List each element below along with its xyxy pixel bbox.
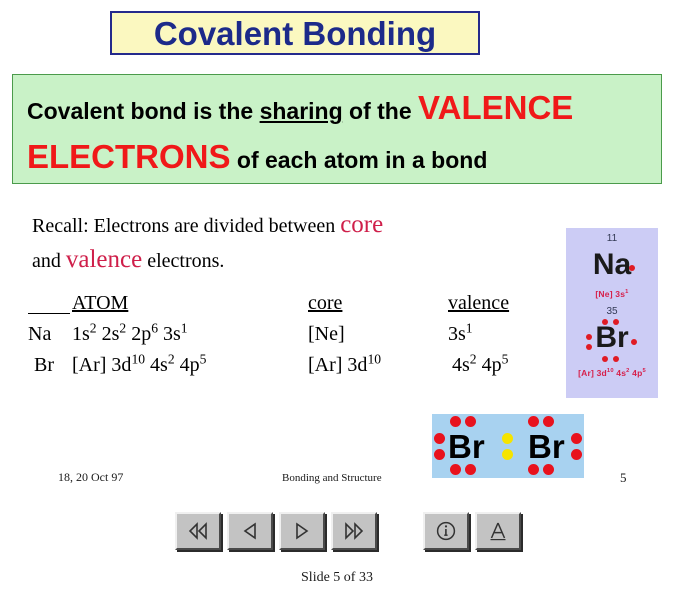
electron-dot-icon [602,319,608,325]
row-valence: 3s1 [448,323,473,346]
slide-navigation-bar [175,512,505,554]
definition-emphasis-valence: VALENCE [418,89,573,126]
lone-pair-dot-icon [528,416,539,427]
electron-dot-icon [586,334,592,340]
sodium-symbol-group: Na [566,247,658,287]
electron-dot-icon [586,344,592,350]
sodium-configuration: [Ne] 3s1 [566,289,658,300]
last-slide-button[interactable] [331,512,377,550]
electron-dot-icon [613,319,619,325]
row-core: [Ar] 3d10 [308,354,381,377]
row-configuration: [Ar] 3d10 4s2 4p5 [72,354,206,377]
lone-pair-dot-icon [450,464,461,475]
definition-text-part1: Covalent bond is the [27,98,260,124]
shared-pair-dot-icon [502,449,513,460]
definition-emphasis-electrons: ELECTRONS [27,138,231,175]
next-slide-button[interactable] [279,512,325,550]
lone-pair-dot-icon [434,449,445,460]
electron-dot-icon [629,265,635,271]
chevron-left-icon [240,522,260,540]
lone-pair-dot-icon [450,416,461,427]
footer-title: Bonding and Structure [282,472,382,484]
electron-configuration-table: ATOM core valence Na 1s2 2s2 2p6 3s1 [Ne… [28,292,558,394]
table-row: Br [Ar] 3d10 4s2 4p5 [Ar] 3d10 4s2 4p5 [28,354,558,394]
lone-pair-dot-icon [571,433,582,444]
definition-line-1: Covalent bond is the sharing of the VALE… [27,85,649,134]
header-left-rule [28,313,70,314]
definition-text-part2: of the [343,98,418,124]
column-header-atom: ATOM [72,292,128,315]
electron-dot-icon [631,339,637,345]
previous-slide-button[interactable] [227,512,273,550]
sodium-atomic-number: 11 [566,233,658,245]
first-slide-button[interactable] [175,512,221,550]
lewis-left-symbol: Br [448,430,485,463]
definition-underlined-word: sharing [260,98,343,124]
lone-pair-dot-icon [434,433,445,444]
row-symbol: Br [34,354,54,377]
info-circle-icon [435,520,457,542]
bromine-symbol-group: Br [566,320,658,360]
row-symbol: Na [28,323,51,346]
lone-pair-dot-icon [543,464,554,475]
row-configuration: 1s2 2s2 2p6 3s1 [72,323,188,346]
definition-text-part3: of each atom in a bond [231,147,488,173]
row-valence: 4s2 4p5 [452,354,508,377]
recall-core-word: core [340,211,383,238]
table-row: Na 1s2 2s2 2p6 3s1 [Ne] 3s1 [28,323,558,354]
bromine-symbol: Br [595,321,628,354]
lone-pair-dot-icon [465,464,476,475]
sodium-symbol: Na [593,248,631,281]
chevron-right-icon [292,522,312,540]
slide-canvas: Covalent Bonding Covalent bond is the sh… [0,0,674,600]
lewis-structure-diagram: Br Br [432,414,584,478]
lone-pair-dot-icon [543,416,554,427]
text-button[interactable] [475,512,521,550]
recall-text-part1: Recall: Electrons are divided between [32,215,340,237]
footer-date: 18, 20 Oct 97 [58,470,123,485]
recall-text-part3: electrons. [142,250,224,272]
page-title: Covalent Bonding [154,17,436,50]
element-reference-card: 11 Na [Ne] 3s1 35 Br [Ar] 3d10 4s2 4p5 [566,228,658,398]
bromine-configuration: [Ar] 3d10 4s2 4p5 [566,368,658,379]
table-header-row: ATOM core valence [28,292,558,323]
double-chevron-right-icon [342,522,366,540]
recall-valence-word: valence [66,246,142,273]
definition-line-2: ELECTRONS of each atom in a bond [27,134,649,183]
info-button[interactable] [423,512,469,550]
electron-dot-icon [602,356,608,362]
letter-a-icon [487,520,509,542]
lewis-right-symbol: Br [528,430,565,463]
double-chevron-left-icon [186,522,210,540]
row-core: [Ne] [308,323,345,346]
definition-box: Covalent bond is the sharing of the VALE… [12,74,662,184]
lone-pair-dot-icon [465,416,476,427]
bromine-atomic-number: 35 [566,306,658,318]
column-header-valence: valence [448,292,509,315]
shared-pair-dot-icon [502,433,513,444]
recall-text-part2: and [32,250,66,272]
footer-page-number: 5 [620,470,627,486]
electron-dot-icon [613,356,619,362]
slide-counter: Slide 5 of 33 [0,570,674,586]
lone-pair-dot-icon [571,449,582,460]
column-header-core: core [308,292,342,315]
lone-pair-dot-icon [528,464,539,475]
slide-title-box: Covalent Bonding [110,11,480,55]
recall-paragraph: Recall: Electrons are divided between co… [32,208,552,278]
